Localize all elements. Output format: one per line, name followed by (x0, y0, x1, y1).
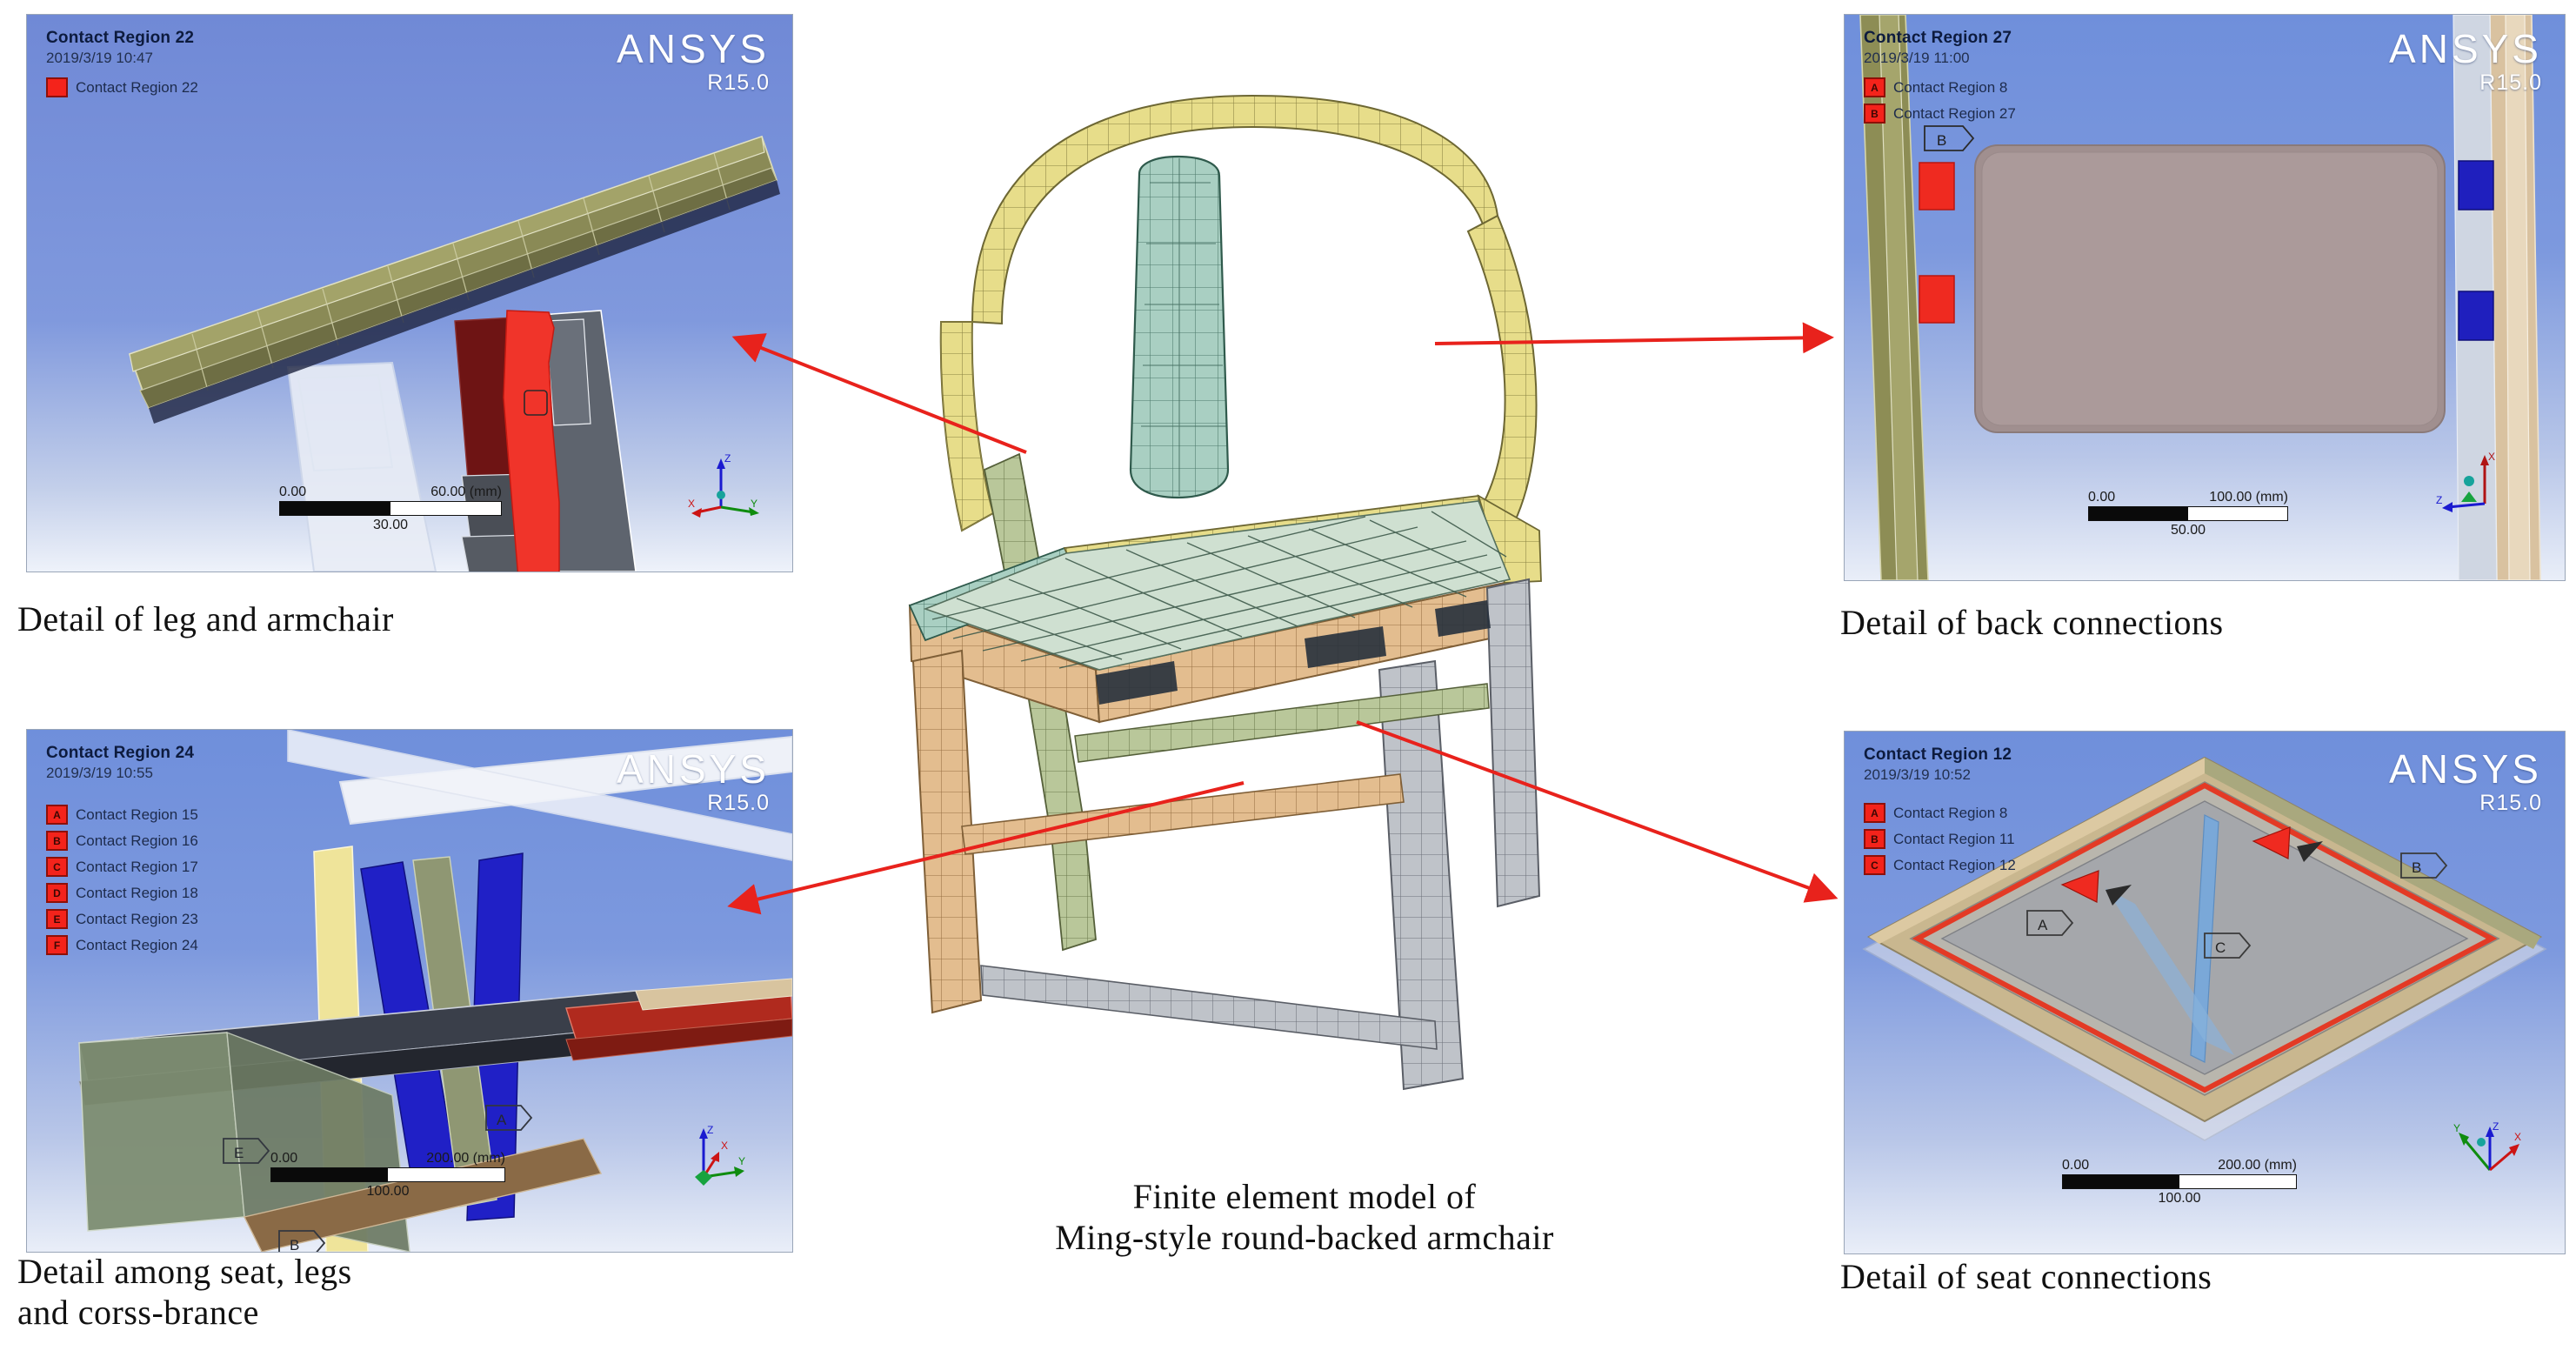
contact-region-swatch-icon: B (46, 831, 68, 851)
svg-text:Y: Y (751, 498, 757, 510)
panel4-axis-triad: Y Z X (2452, 1120, 2526, 1189)
contact-region-swatch-icon: E (46, 909, 68, 929)
panel3-axis-triad: Z Y X (674, 1123, 749, 1193)
legend-label: Contact Region 17 (76, 859, 198, 876)
svg-text:X: X (721, 1140, 728, 1152)
legend-label: Contact Region 22 (76, 79, 198, 97)
ansys-logo: ANSYS R15.0 (2389, 751, 2542, 816)
svg-text:B: B (2412, 859, 2421, 876)
ansys-wordmark: ANSYS (2389, 30, 2542, 69)
legend-label: Contact Region 27 (1893, 105, 2016, 123)
caption-leg-armchair: Detail of leg and armchair (17, 598, 394, 639)
legend-label: Contact Region 24 (76, 937, 198, 954)
svg-text:Y: Y (2453, 1122, 2460, 1134)
svg-text:A: A (497, 1112, 507, 1128)
panel1-axis-triad: Z Y X (686, 451, 761, 521)
panel3-scale-bar: 0.00 200.00 (mm) 100.00 (270, 1151, 505, 1200)
svg-text:X: X (2488, 451, 2495, 463)
contact-region-swatch-icon: D (46, 883, 68, 903)
legend-label: Contact Region 11 (1893, 831, 2015, 848)
legend-item[interactable]: Contact Region 22 (46, 77, 198, 97)
contact-region-swatch-icon: A (46, 805, 68, 825)
legend-item[interactable]: A Contact Region 8 (1864, 803, 2016, 823)
scale-mid-label: 100.00 (2062, 1191, 2297, 1207)
legend-item[interactable]: D Contact Region 18 (46, 883, 198, 903)
scale-min-label: 0.00 (2088, 490, 2115, 505)
ansys-logo: ANSYS R15.0 (2389, 30, 2542, 96)
legend-item[interactable]: C Contact Region 12 (1864, 855, 2016, 875)
panel4-scale-bar: 0.00 200.00 (mm) 100.00 (2062, 1158, 2297, 1207)
ansys-version: R15.0 (617, 70, 770, 96)
panel3-date: 2019/3/19 10:55 (46, 765, 153, 782)
legend-label: Contact Region 16 (76, 832, 198, 850)
svg-text:E: E (234, 1145, 244, 1161)
ansys-version: R15.0 (2389, 791, 2542, 816)
panel4-legend: A Contact Region 8 B Contact Region 11 C… (1864, 803, 2016, 881)
legend-item[interactable]: C Contact Region 17 (46, 857, 198, 877)
caption-back-connections: Detail of back connections (1840, 602, 2224, 643)
legend-item[interactable]: A Contact Region 8 (1864, 77, 2016, 97)
ansys-logo: ANSYS R15.0 (617, 751, 770, 816)
panel4-date: 2019/3/19 10:52 (1864, 766, 1971, 784)
svg-text:Y: Y (738, 1155, 745, 1167)
panel3-legend: A Contact Region 15 B Contact Region 16 … (46, 805, 198, 961)
legend-label: Contact Region 15 (76, 806, 198, 824)
svg-text:Z: Z (707, 1124, 713, 1136)
panel2-date: 2019/3/19 11:00 (1864, 50, 1970, 67)
ansys-wordmark: ANSYS (617, 751, 770, 789)
panel1-scale-bar: 0.00 60.00 (mm) 30.00 (279, 485, 502, 533)
contact-region-swatch-icon: F (46, 935, 68, 955)
center-finite-element-model[interactable] (878, 61, 1713, 1140)
panel-seat-legs-cross-brace[interactable]: A E B Contact Region 24 2019/3/19 10:55 … (26, 729, 793, 1253)
panel-seat-connections[interactable]: A B C Contact Region 12 2019/3/19 10:52 … (1844, 731, 2566, 1254)
scale-mid-label: 30.00 (279, 518, 502, 533)
legend-label: Contact Region 8 (1893, 805, 2007, 822)
svg-text:X: X (688, 498, 695, 510)
legend-label: Contact Region 23 (76, 911, 198, 928)
ansys-version: R15.0 (2389, 70, 2542, 96)
svg-text:Z: Z (2493, 1120, 2499, 1133)
panel-back-connections[interactable]: B Contact Region 27 2019/3/19 11:00 A Co… (1844, 14, 2566, 581)
panel2-title: Contact Region 27 (1864, 29, 2012, 48)
caption-seat-connections: Detail of seat connections (1840, 1256, 2212, 1297)
legend-item[interactable]: E Contact Region 23 (46, 909, 198, 929)
contact-region-swatch-icon: B (1864, 829, 1885, 849)
panel3-title: Contact Region 24 (46, 744, 194, 763)
scale-min-label: 0.00 (270, 1151, 297, 1166)
scale-max-label: 100.00 (mm) (2209, 490, 2288, 505)
contact-region-swatch-icon: A (1864, 77, 1885, 97)
caption-center-model: Finite element model of Ming-style round… (809, 1176, 1800, 1258)
scale-min-label: 0.00 (279, 485, 306, 500)
panel2-axis-triad: X Z (2434, 450, 2509, 519)
panel1-date: 2019/3/19 10:47 (46, 50, 153, 67)
contact-region-swatch-icon: A (1864, 803, 1885, 823)
ansys-wordmark: ANSYS (617, 30, 770, 69)
legend-label: Contact Region 18 (76, 885, 198, 902)
panel4-title: Contact Region 12 (1864, 745, 2012, 765)
svg-text:C: C (2215, 939, 2226, 956)
caption-seat-legs-cross-brace: Detail among seat, legs and corss-brance (17, 1251, 352, 1333)
legend-item[interactable]: F Contact Region 24 (46, 935, 198, 955)
svg-text:Z: Z (724, 452, 731, 465)
svg-text:X: X (2514, 1131, 2521, 1143)
panel-leg-armchair[interactable]: Contact Region 22 2019/3/19 10:47 Contac… (26, 14, 793, 572)
scale-mid-label: 50.00 (2088, 523, 2288, 538)
contact-region-swatch-icon: C (1864, 855, 1885, 875)
scale-mid-label: 100.00 (270, 1184, 505, 1200)
ansys-wordmark: ANSYS (2389, 751, 2542, 789)
svg-text:B: B (290, 1237, 299, 1252)
contact-region-swatch-icon: C (46, 857, 68, 877)
ansys-version: R15.0 (617, 791, 770, 816)
svg-text:Z: Z (2436, 494, 2442, 506)
scale-min-label: 0.00 (2062, 1158, 2089, 1173)
contact-region-swatch-icon: B (1864, 104, 1885, 124)
scale-max-label: 200.00 (mm) (426, 1151, 505, 1166)
contact-region-swatch-icon (46, 77, 68, 97)
legend-item[interactable]: A Contact Region 15 (46, 805, 198, 825)
legend-label: Contact Region 12 (1893, 857, 2016, 874)
legend-item[interactable]: B Contact Region 16 (46, 831, 198, 851)
svg-text:A: A (2038, 917, 2048, 933)
legend-item[interactable]: B Contact Region 11 (1864, 829, 2016, 849)
scale-max-label: 200.00 (mm) (2218, 1158, 2297, 1173)
panel1-title: Contact Region 22 (46, 29, 194, 48)
legend-item[interactable]: B Contact Region 27 (1864, 104, 2016, 124)
panel1-legend: Contact Region 22 (46, 77, 198, 104)
panel2-legend: A Contact Region 8 B Contact Region 27 (1864, 77, 2016, 130)
ansys-logo: ANSYS R15.0 (617, 30, 770, 96)
panel2-scale-bar: 0.00 100.00 (mm) 50.00 (2088, 490, 2288, 538)
scale-max-label: 60.00 (mm) (430, 485, 502, 500)
legend-label: Contact Region 8 (1893, 79, 2007, 97)
svg-text:B: B (1937, 132, 1946, 149)
